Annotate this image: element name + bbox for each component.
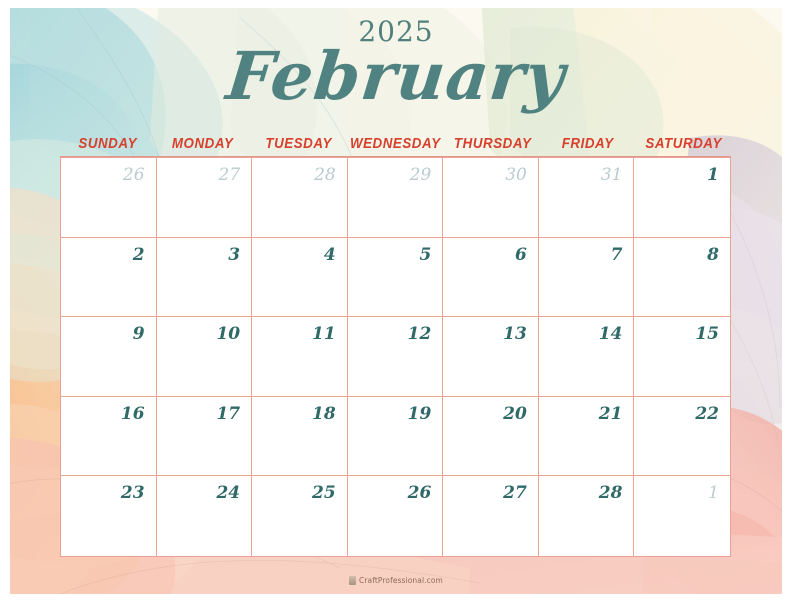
day-number: 8 [707,247,719,264]
day-number: 18 [312,406,336,423]
weekday-header-sunday: SUNDAY [64,136,152,156]
calendar-day-cell[interactable]: 15 [634,317,730,397]
day-number: 17 [216,406,240,423]
calendar-day-cell[interactable]: 1 [634,476,730,556]
calendar-day-cell[interactable]: 23 [61,476,157,556]
calendar-day-cell[interactable]: 16 [61,397,157,477]
calendar-day-cell[interactable]: 19 [348,397,444,477]
day-number: 16 [121,406,145,423]
calendar-day-cell[interactable]: 12 [348,317,444,397]
day-number: 15 [695,326,719,343]
calendar-day-cell[interactable]: 27 [157,158,253,238]
day-number: 4 [324,247,336,264]
weekday-header-monday: MONDAY [159,136,247,156]
day-number: 14 [599,326,623,343]
day-number: 10 [216,326,240,343]
day-number: 20 [503,406,527,423]
calendar-day-cell[interactable]: 26 [61,158,157,238]
day-number: 28 [599,485,623,502]
day-number: 9 [133,326,145,343]
day-number: 19 [408,406,432,423]
day-number-adjacent-month: 30 [505,167,527,184]
calendar-day-cell[interactable]: 18 [252,397,348,477]
day-number-adjacent-month: 31 [601,167,623,184]
day-number: 6 [515,247,527,264]
day-number: 5 [419,247,431,264]
weekday-header-friday: FRIDAY [544,136,632,156]
day-number: 13 [503,326,527,343]
weekday-header-saturday: SATURDAY [639,136,727,156]
calendar-day-cell[interactable]: 7 [539,238,635,318]
calendar-day-cell[interactable]: 9 [61,317,157,397]
calendar-day-cell[interactable]: 2 [61,238,157,318]
calendar-day-cell[interactable]: 10 [157,317,253,397]
footer-credit: CraftProfessional.com [0,576,792,586]
calendar-day-cell[interactable]: 1 [634,158,730,238]
calendar-day-cell[interactable]: 26 [348,476,444,556]
calendar-day-cell[interactable]: 28 [539,476,635,556]
calendar-day-cell[interactable]: 27 [443,476,539,556]
calendar-page: 2025 February SUNDAY MONDAY TUESDAY WEDN… [0,0,792,612]
calendar-day-cell[interactable]: 28 [252,158,348,238]
day-number: 2 [133,247,145,264]
calendar-day-cell[interactable]: 8 [634,238,730,318]
day-number: 21 [599,406,623,423]
calendar-day-cell[interactable]: 20 [443,397,539,477]
day-number: 12 [408,326,432,343]
weekday-header-wednesday: WEDNESDAY [350,136,441,156]
calendar-day-cell[interactable]: 11 [252,317,348,397]
calendar-day-cell[interactable]: 31 [539,158,635,238]
day-number-adjacent-month: 29 [410,167,432,184]
day-number: 27 [503,485,527,502]
day-number: 23 [121,485,145,502]
calendar-day-cell[interactable]: 21 [539,397,635,477]
calendar-day-cell[interactable]: 25 [252,476,348,556]
calendar-day-cell[interactable]: 5 [348,238,444,318]
calendar-day-cell[interactable]: 3 [157,238,253,318]
day-number: 26 [408,485,432,502]
day-number-adjacent-month: 1 [708,485,719,502]
day-number: 22 [695,406,719,423]
calendar-day-cell[interactable]: 30 [443,158,539,238]
calendar-day-cell[interactable]: 24 [157,476,253,556]
day-number: 11 [312,326,336,343]
weekday-header-thursday: THURSDAY [449,136,537,156]
day-number: 3 [228,247,240,264]
day-number-adjacent-month: 26 [123,167,145,184]
calendar-day-cell[interactable]: 14 [539,317,635,397]
footer-credit-text: CraftProfessional.com [359,576,443,585]
day-number-adjacent-month: 28 [314,167,336,184]
calendar-day-cell[interactable]: 13 [443,317,539,397]
day-number: 7 [611,247,623,264]
calendar-grid: 2627282930311234567891011121314151617181… [60,157,731,557]
calendar-day-cell[interactable]: 17 [157,397,253,477]
day-number: 1 [707,167,719,184]
calendar-day-cell[interactable]: 6 [443,238,539,318]
weekday-header-tuesday: TUESDAY [255,136,343,156]
logo-mark-icon [349,576,356,585]
weekday-header-row: SUNDAY MONDAY TUESDAY WEDNESDAY THURSDAY… [60,136,731,157]
calendar-day-cell[interactable]: 29 [348,158,444,238]
calendar-day-cell[interactable]: 4 [252,238,348,318]
calendar-day-cell[interactable]: 22 [634,397,730,477]
day-number-adjacent-month: 27 [219,167,241,184]
day-number: 24 [216,485,240,502]
day-number: 25 [312,485,336,502]
